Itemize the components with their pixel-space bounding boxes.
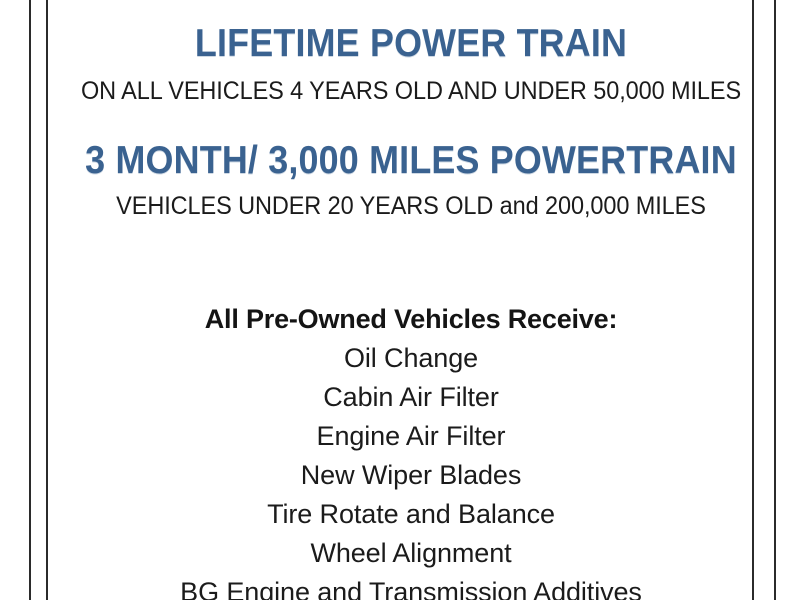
services-heading: All Pre-Owned Vehicles Receive: <box>48 300 774 339</box>
services-list: Oil ChangeCabin Air FilterEngine Air Fil… <box>48 339 774 600</box>
service-item: New Wiper Blades <box>48 456 774 495</box>
services-section: All Pre-Owned Vehicles Receive: Oil Chan… <box>48 300 774 600</box>
page-border-line-outer-left <box>29 0 31 600</box>
service-item: Tire Rotate and Balance <box>48 495 774 534</box>
warranty-title-3month: 3 MONTH/ 3,000 MILES POWERTRAIN <box>77 141 745 180</box>
warranty-block-lifetime: LIFETIME POWER TRAIN ON ALL VEHICLES 4 Y… <box>48 24 774 104</box>
flyer-content: LIFETIME POWER TRAIN ON ALL VEHICLES 4 Y… <box>48 0 774 600</box>
warranty-subtitle-lifetime: ON ALL VEHICLES 4 YEARS OLD AND UNDER 50… <box>70 79 752 104</box>
warranty-subtitle-3month: VEHICLES UNDER 20 YEARS OLD and 200,000 … <box>70 194 752 219</box>
warranty-title-lifetime: LIFETIME POWER TRAIN <box>77 24 745 63</box>
service-item: Oil Change <box>48 339 774 378</box>
service-item: Cabin Air Filter <box>48 378 774 417</box>
flyer-page: LIFETIME POWER TRAIN ON ALL VEHICLES 4 Y… <box>0 0 800 600</box>
service-item: Engine Air Filter <box>48 417 774 456</box>
service-item: BG Engine and Transmission Additives <box>48 573 774 600</box>
service-item: Wheel Alignment <box>48 534 774 573</box>
warranty-block-3month: 3 MONTH/ 3,000 MILES POWERTRAIN VEHICLES… <box>48 141 774 219</box>
page-border-line-outer-right <box>774 0 776 600</box>
